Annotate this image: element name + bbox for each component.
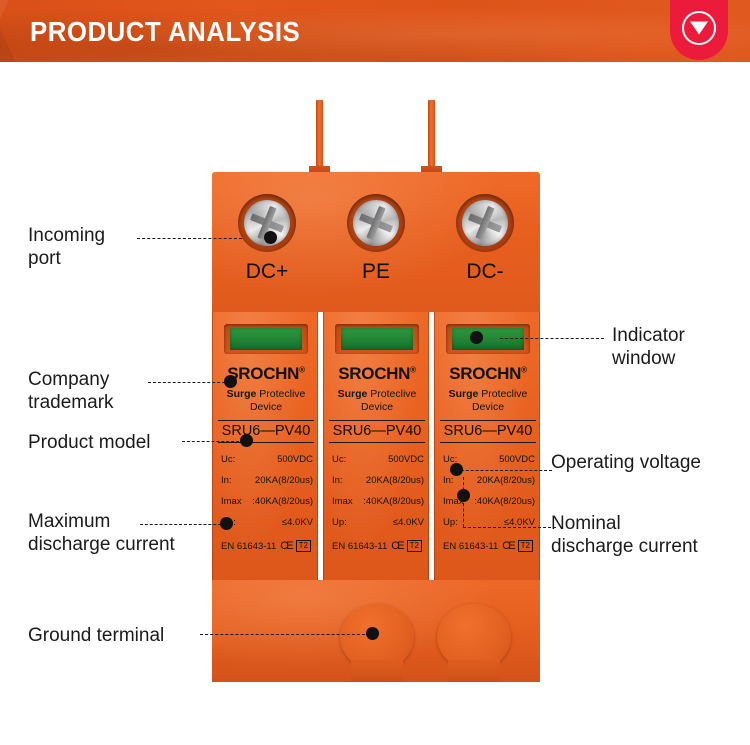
registered-mark: ® <box>521 365 527 374</box>
spd-module: SROCHN® Surge ProtecliveDevice SRU6—PV40… <box>434 312 540 580</box>
product-model-text: SRU6—PV40 <box>440 420 536 443</box>
spec-value: 20KA(8/20us) <box>477 475 535 486</box>
leader-incoming-port <box>137 238 242 239</box>
callout-dot-product-model <box>240 434 253 447</box>
subtitle-rest: Proteclive <box>478 388 527 400</box>
leader-ground-terminal <box>200 634 370 635</box>
product-model-text: SRU6—PV40 <box>218 420 314 443</box>
spd-device-illustration: DC+ PE DC- SROCHN® Surge ProtecliveDevic… <box>212 100 540 682</box>
callout-dot-incoming-port <box>264 231 277 244</box>
callout-dot-company-trademark <box>224 375 237 388</box>
top-terminal-pin-left <box>316 100 323 172</box>
callout-dot-indicator-window <box>470 331 483 344</box>
certification-row: EN 61643-11 CE T2 <box>221 540 313 552</box>
callout-indicator-window: Indicator window <box>612 324 685 370</box>
registered-mark: ® <box>299 365 305 374</box>
spec-key: Imax <box>221 496 242 507</box>
ce-mark-icon: CE <box>280 540 291 552</box>
product-subtitle: Surge ProtecliveDevice <box>328 388 426 414</box>
brand-logo: SROCHN® <box>324 364 430 384</box>
subtitle-bold: Surge <box>338 388 368 400</box>
callout-company-trademark: Company trademark <box>28 368 114 414</box>
callout-operating-voltage: Operating voltage <box>551 451 701 474</box>
subtitle-line2: Device <box>361 401 393 413</box>
indicator-window-green <box>452 328 524 350</box>
port-label-dc-minus: DC- <box>456 260 514 284</box>
port-label-dc-plus: DC+ <box>238 260 296 284</box>
device-upper-housing: DC+ PE DC- <box>212 172 540 312</box>
subtitle-line2: Device <box>472 401 504 413</box>
top-terminal-pin-right <box>428 100 435 172</box>
page-header-banner: PRODUCT ANALYSIS <box>0 0 750 62</box>
indicator-window-green <box>341 328 413 350</box>
spec-value: 500VDC <box>499 454 535 465</box>
spec-value: 20KA(8/20us) <box>366 475 424 486</box>
callout-ground-terminal: Ground terminal <box>28 624 164 647</box>
device-module-row: SROCHN® Surge ProtecliveDevice SRU6—PV40… <box>212 312 540 580</box>
spec-value: 500VDC <box>388 454 424 465</box>
callout-incoming-port: Incoming port <box>28 224 105 270</box>
product-model-text: SRU6—PV40 <box>329 420 425 443</box>
brand-name: SROCHN <box>449 364 521 383</box>
subtitle-rest: Proteclive <box>367 388 416 400</box>
subtitle-bold: Surge <box>227 388 257 400</box>
indicator-window <box>446 324 530 354</box>
base-notch <box>448 660 500 682</box>
phillips-screw-icon <box>353 200 399 246</box>
brand-logo: SROCHN® <box>435 364 541 384</box>
callout-dot-nominal-discharge-current <box>457 489 470 502</box>
spec-value: ≤4.0KV <box>393 517 424 528</box>
standard-text: EN 61643-11 <box>443 541 498 552</box>
scroll-down-badge[interactable] <box>670 0 728 60</box>
leader-nominal-discharge-vertical <box>463 477 464 527</box>
spec-value: :40KA(8/20us) <box>363 496 424 507</box>
subtitle-bold: Surge <box>449 388 479 400</box>
leader-product-model <box>182 441 244 442</box>
callout-maximum-discharge-current: Maximum discharge current <box>28 510 175 556</box>
leader-company-trademark <box>148 382 230 383</box>
spec-key: In: <box>443 475 454 486</box>
spec-value: :40KA(8/20us) <box>252 496 313 507</box>
page-title: PRODUCT ANALYSIS <box>30 16 300 48</box>
screw-terminal-dc-minus <box>456 194 514 252</box>
callout-dot-ground-terminal <box>366 627 379 640</box>
class-t2-icon: T2 <box>407 540 422 551</box>
spec-key: Imax <box>332 496 353 507</box>
leader-nominal-discharge-current <box>463 527 556 528</box>
standard-text: EN 61643-11 <box>221 541 276 552</box>
spec-value: ≤4.0KV <box>282 517 313 528</box>
spec-key: In: <box>221 475 232 486</box>
spec-key: In: <box>332 475 343 486</box>
callout-dot-operating-voltage <box>450 463 463 476</box>
certification-row: EN 61643-11 CE T2 <box>443 540 535 552</box>
spec-value: :40KA(8/20us) <box>474 496 535 507</box>
spec-key: Uc: <box>221 454 235 465</box>
ce-mark-icon: CE <box>502 540 513 552</box>
callout-nominal-discharge-current: Nominal discharge current <box>551 512 698 558</box>
leader-operating-voltage <box>456 470 552 471</box>
phillips-screw-icon <box>462 200 508 246</box>
registered-mark: ® <box>410 365 416 374</box>
spd-module: SROCHN® Surge ProtecliveDevice SRU6—PV40… <box>323 312 429 580</box>
triangle-down-icon <box>690 22 708 35</box>
brand-name: SROCHN <box>338 364 410 383</box>
port-label-pe: PE <box>347 260 405 284</box>
spec-key: Up: <box>332 517 347 528</box>
product-subtitle: Surge ProtecliveDevice <box>217 388 315 414</box>
certification-row: EN 61643-11 CE T2 <box>332 540 424 552</box>
standard-text: EN 61643-11 <box>332 541 387 552</box>
subtitle-rest: Proteclive <box>256 388 305 400</box>
class-t2-icon: T2 <box>296 540 311 551</box>
indicator-window-green <box>230 328 302 350</box>
ce-mark-icon: CE <box>391 540 402 552</box>
indicator-window <box>335 324 419 354</box>
brand-name: SROCHN <box>227 364 299 383</box>
spd-module: SROCHN® Surge ProtecliveDevice SRU6—PV40… <box>212 312 318 580</box>
spec-key: Up: <box>443 517 458 528</box>
class-t2-icon: T2 <box>518 540 533 551</box>
base-notch <box>351 660 403 682</box>
spec-key: Uc: <box>332 454 346 465</box>
spec-value: 20KA(8/20us) <box>255 475 313 486</box>
callout-dot-maximum-discharge-current <box>220 517 233 530</box>
spec-value: 500VDC <box>277 454 313 465</box>
indicator-window <box>224 324 308 354</box>
leader-indicator-window <box>500 338 604 339</box>
product-subtitle: Surge ProtecliveDevice <box>439 388 537 414</box>
screw-terminal-pe <box>347 194 405 252</box>
subtitle-line2: Device <box>250 401 282 413</box>
callout-product-model: Product model <box>28 431 151 454</box>
